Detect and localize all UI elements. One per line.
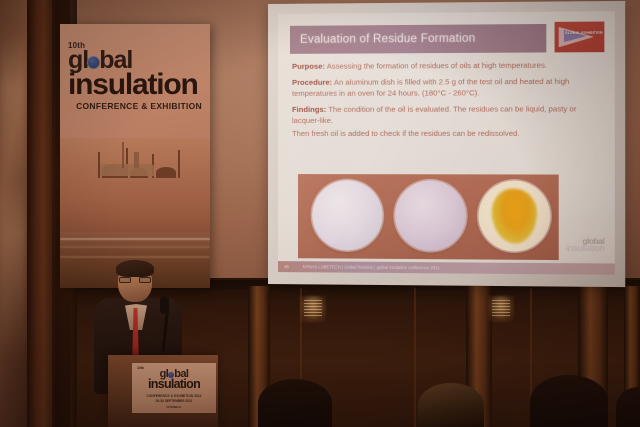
procedure-text: An aluminum dish is filled with 2.5 g of…: [292, 77, 569, 98]
ferry-boat: [88, 172, 174, 216]
podium-brand-insulation: insulation: [132, 378, 216, 391]
dish-2: [395, 180, 466, 251]
footer-logo-insulation: insulation: [544, 244, 604, 254]
podium-sign: 10th glbal insulation CONFERENCE & EXHIB…: [132, 363, 216, 413]
ferry-funnel: [134, 152, 139, 168]
dish-rim: [478, 180, 550, 251]
slide-header-bar: Evaluation of Residue Formation: [290, 24, 546, 54]
audience-head: [418, 383, 484, 427]
banner-subtitle: CONFERENCE & EXHIBITION: [68, 102, 206, 111]
slide-paragraph-procedure: Procedure: An aluminum dish is filled wi…: [292, 77, 598, 100]
ferry-mast: [122, 142, 124, 168]
conference-banner: 10th glbal insulation CONFERENCE & EXHIB…: [60, 24, 210, 288]
dish-3: [478, 180, 550, 251]
audience-head: [258, 379, 332, 427]
procedure-lead: Procedure:: [292, 78, 332, 87]
presentation-slide: Evaluation of Residue Formation GLOBAL E…: [278, 11, 615, 275]
slide-paragraph-findings: Findings: The condition of the oil is ev…: [292, 105, 598, 127]
projection-screen: Evaluation of Residue Formation GLOBAL E…: [268, 1, 625, 287]
dish-1: [312, 180, 383, 251]
glasses-lens-right: [139, 277, 151, 283]
slide-paragraph-purpose: Purpose: Assessing the formation of resi…: [292, 60, 598, 72]
slide-footer-bar: 16 NYNAS LUBETECH | Global Residue | glo…: [278, 261, 615, 275]
ferry-deck: [100, 164, 154, 176]
exhibition-logo: GLOBAL EXHIBITION: [555, 21, 605, 52]
podium-line2: 29-30 SEPTEMBER 2011: [132, 399, 216, 403]
extra-text: Then fresh oil is added to check if the …: [292, 129, 520, 138]
banner-brand-insulation: insulation: [68, 70, 206, 100]
slide-page-number: 16: [278, 264, 289, 269]
slide-title: Evaluation of Residue Formation: [290, 33, 475, 46]
speaker-hair: [116, 260, 154, 277]
speaker-glasses: [119, 277, 151, 283]
findings-text: The condition of the oil is evaluated. T…: [292, 105, 576, 125]
findings-lead: Findings:: [292, 105, 326, 114]
residue-dish-image: [298, 174, 559, 260]
panel-seam: [414, 288, 416, 427]
dish-rim: [312, 180, 383, 251]
podium-line3: ISTANBUL: [132, 405, 216, 409]
podium-line1: CONFERENCE & EXHIBITION 2011: [132, 394, 216, 398]
slide-body-text: Purpose: Assessing the formation of resi…: [292, 60, 598, 145]
banner-text-block: 10th glbal insulation CONFERENCE & EXHIB…: [68, 42, 206, 111]
left-wall-glow: [0, 30, 26, 360]
wall-light-grille: [304, 300, 322, 316]
podium: 10th glbal insulation CONFERENCE & EXHIB…: [108, 355, 218, 427]
exhibition-logo-text: GLOBAL EXHIBITION: [565, 32, 603, 36]
wall-light-grille: [492, 300, 510, 316]
slide-footer-logo: global insulation: [544, 238, 604, 257]
purpose-lead: Purpose:: [292, 62, 325, 71]
slide-footer-text: NYNAS LUBETECH | Global Residue | global…: [289, 264, 440, 270]
dish-rim: [395, 180, 466, 251]
microphone-icon: [160, 296, 169, 314]
glasses-lens-left: [119, 277, 131, 283]
conference-room-photo: 10th glbal insulation CONFERENCE & EXHIB…: [0, 0, 640, 427]
purpose-text: Assessing the formation of residues of o…: [325, 61, 547, 71]
slide-paragraph-extra: Then fresh oil is added to check if the …: [292, 129, 598, 140]
audience-head: [530, 375, 608, 427]
